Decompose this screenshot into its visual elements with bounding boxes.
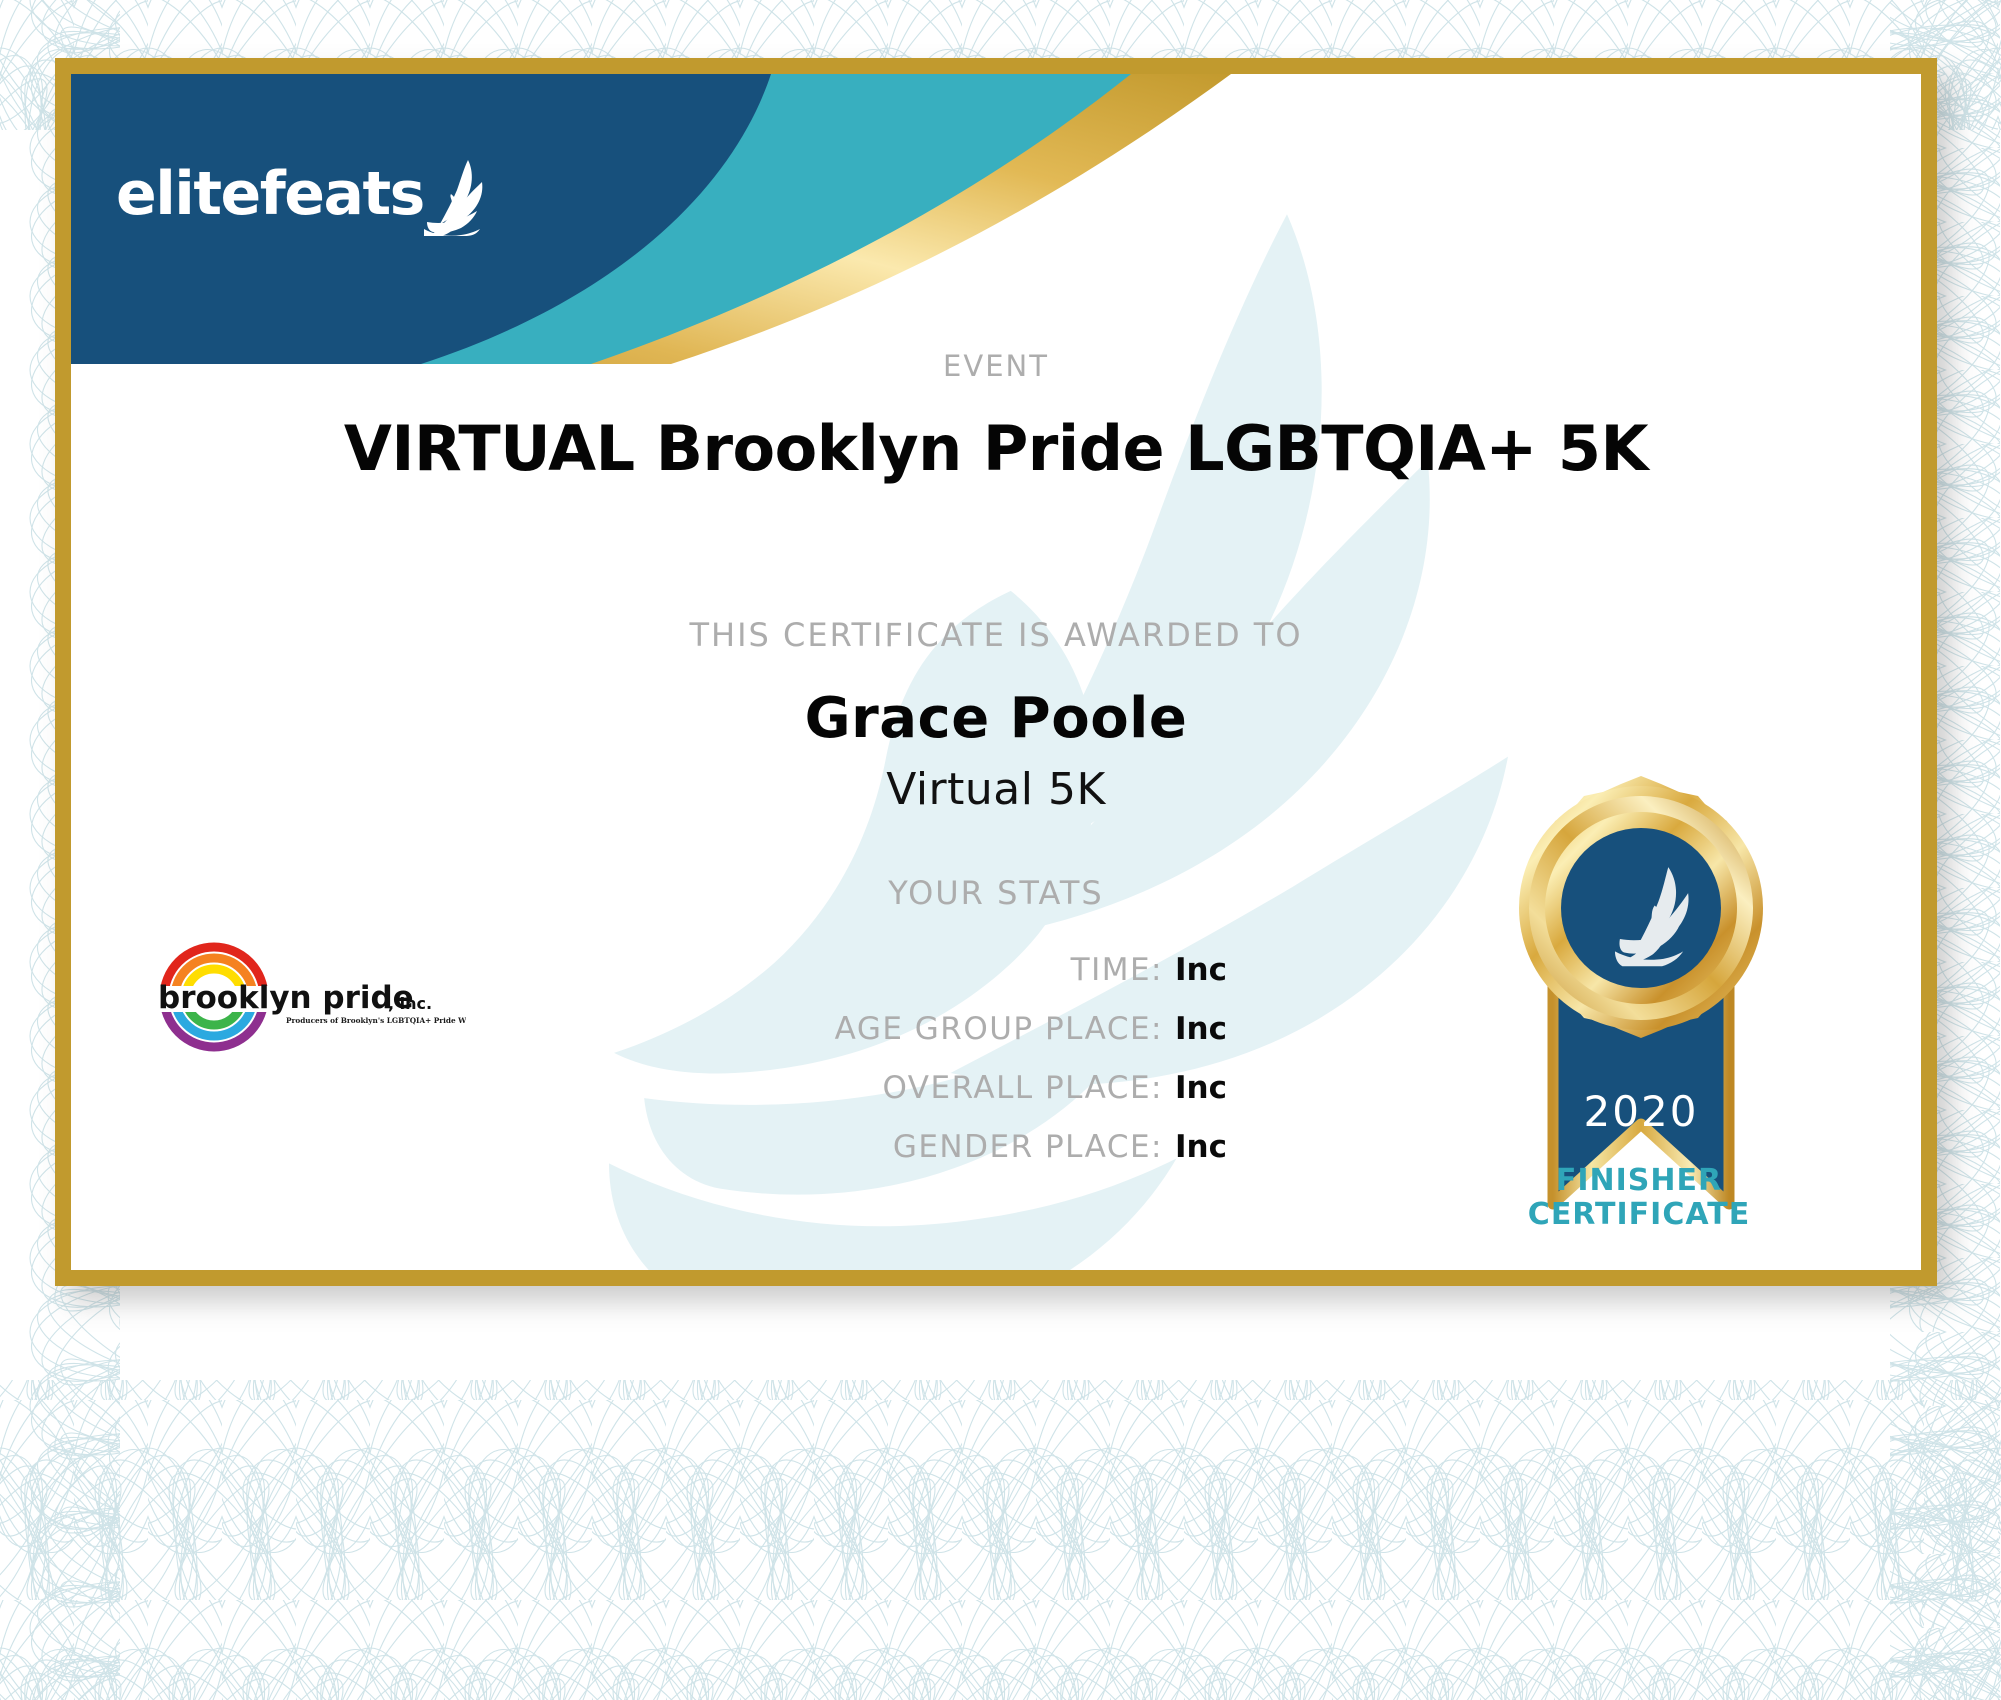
finisher-caption: FINISHER CERTIFICATE [1469, 1164, 1809, 1232]
stat-value: Inc [1175, 1070, 1261, 1106]
certificate-content: EVENT VIRTUAL Brooklyn Pride LGBTQIA+ 5K… [71, 74, 1921, 1270]
brooklyn-pride-suffix: , inc. [388, 994, 432, 1013]
finisher-caption-line1: FINISHER [1469, 1164, 1809, 1198]
awarded-to-label: THIS CERTIFICATE IS AWARDED TO [71, 616, 1921, 654]
finisher-caption-line2: CERTIFICATE [1469, 1198, 1809, 1232]
stat-row-overall-place: OVERALL PLACE: Inc [71, 1070, 1261, 1106]
stat-value: Inc [1175, 1011, 1261, 1047]
stat-value: Inc [1175, 1129, 1261, 1165]
brooklyn-pride-wordmark: brooklyn pride [158, 980, 414, 1016]
medal-year: 2020 [1584, 1087, 1699, 1136]
stat-key: TIME: [1071, 952, 1163, 988]
stat-key: GENDER PLACE: [893, 1129, 1163, 1165]
stat-key: OVERALL PLACE: [882, 1070, 1163, 1106]
brooklyn-pride-logo: brooklyn pride , inc. Producers of Brook… [156, 939, 466, 1054]
stat-value: Inc [1175, 952, 1261, 988]
recipient-name: Grace Poole [71, 686, 1921, 751]
certificate-page: elitefeats EVENT VIRTUAL Brooklyn Pride … [0, 0, 2001, 1700]
stat-row-gender-place: GENDER PLACE: Inc [71, 1129, 1261, 1165]
certificate-body: elitefeats EVENT VIRTUAL Brooklyn Pride … [71, 74, 1921, 1270]
event-title: VIRTUAL Brooklyn Pride LGBTQIA+ 5K [71, 412, 1921, 485]
event-label: EVENT [71, 349, 1921, 383]
stat-key: AGE GROUP PLACE: [835, 1011, 1163, 1047]
brooklyn-pride-tagline: Producers of Brooklyn's LGBTQIA+ Pride W… [286, 1016, 466, 1025]
certificate-frame: elitefeats EVENT VIRTUAL Brooklyn Pride … [55, 58, 1937, 1286]
